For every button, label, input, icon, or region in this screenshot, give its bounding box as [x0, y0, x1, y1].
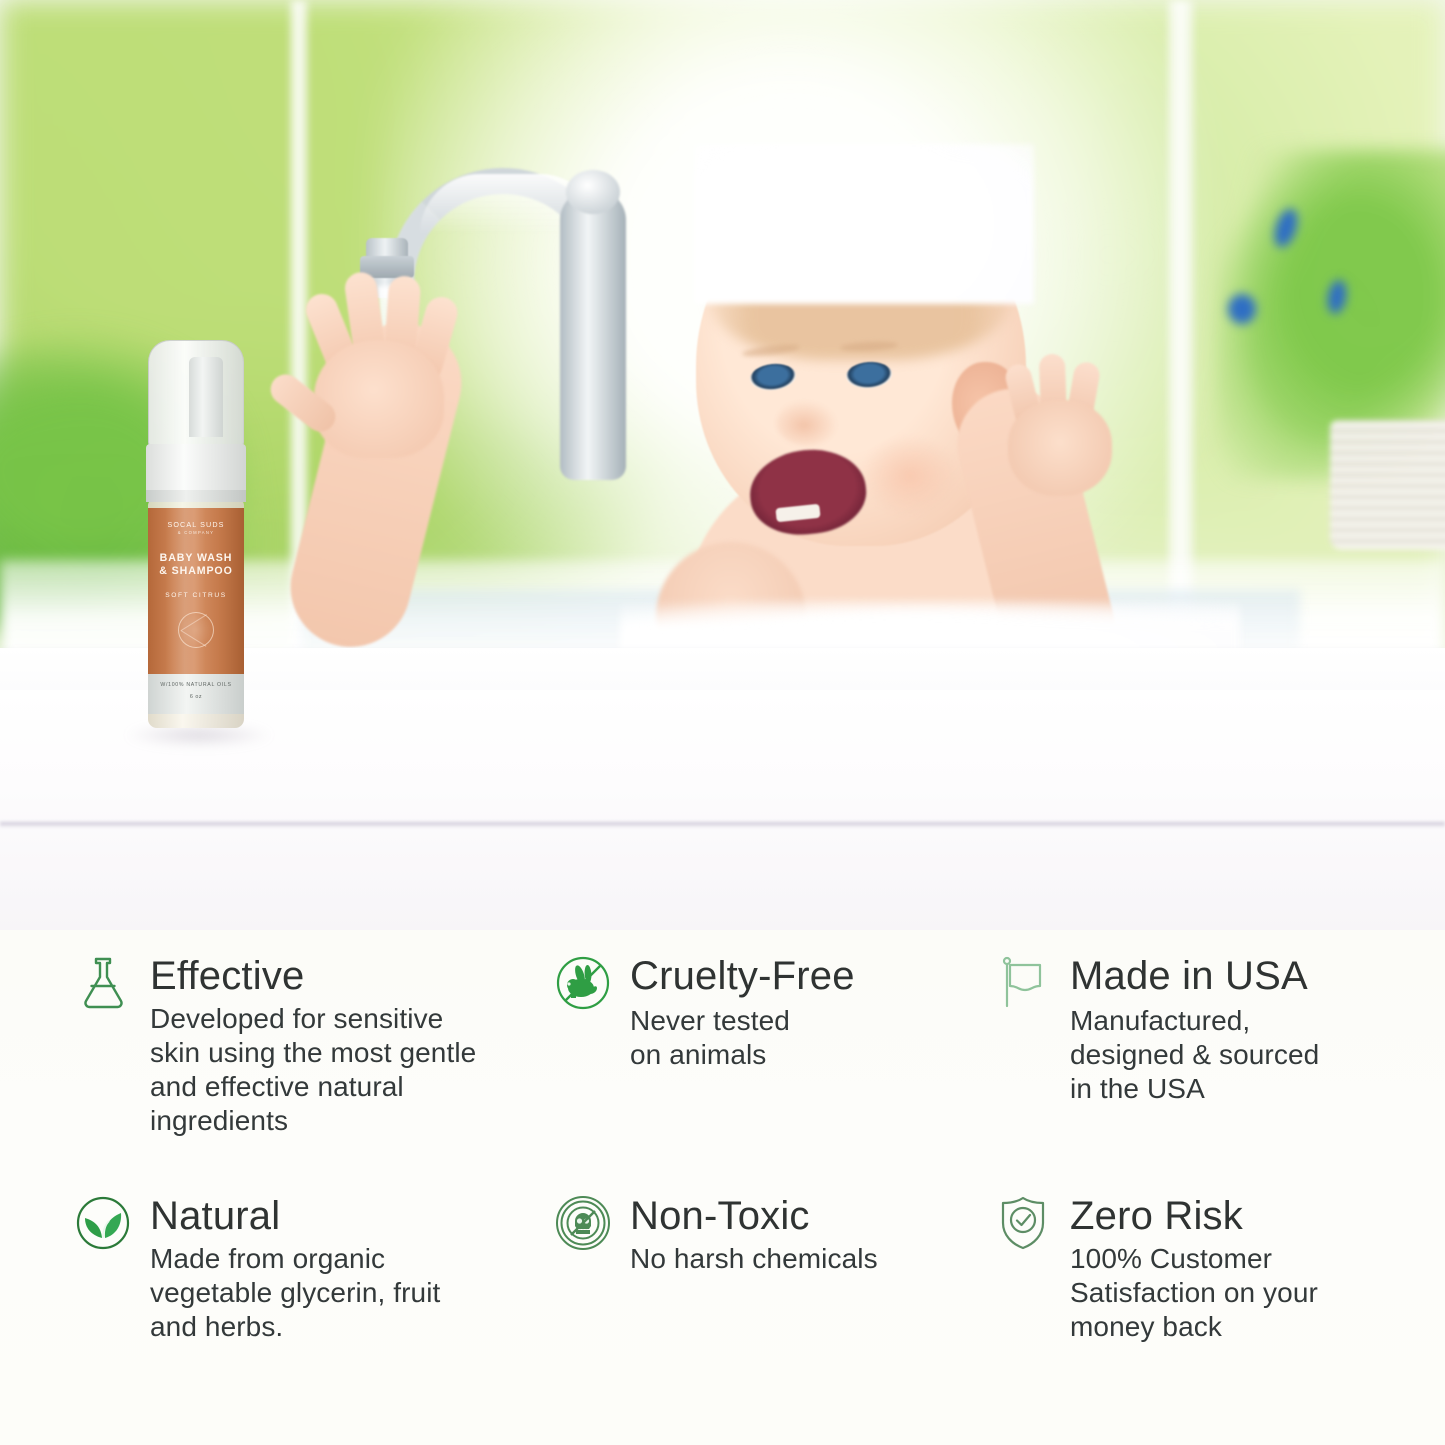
- flask-icon: [72, 952, 134, 1014]
- features-panel: Effective Developed for sensitive skin u…: [0, 930, 1445, 1445]
- feature-text: Non-Toxic No harsh chemicals: [630, 1192, 992, 1276]
- feature-cruelty-free: Cruelty-Free Never tested on animals: [552, 952, 992, 1192]
- feature-natural: Natural Made from organic vegetable glyc…: [72, 1192, 552, 1344]
- feature-description: Made from organic vegetable glycerin, fr…: [150, 1242, 552, 1344]
- baby-hand-left: [280, 270, 470, 450]
- label-scent: SOFT CITRUS: [148, 592, 244, 599]
- bottle-label: SOCAL SUDS & COMPANY BABY WASH & SHAMPOO…: [148, 508, 244, 674]
- pump-collar-ring: [146, 490, 246, 502]
- label-brand: SOCAL SUDS: [148, 520, 244, 529]
- flag-icon: [992, 952, 1054, 1014]
- feature-text: Cruelty-Free Never tested on animals: [630, 952, 992, 1072]
- label-size: 6 oz: [148, 694, 244, 700]
- feature-text: Made in USA Manufactured, designed & sou…: [1070, 952, 1432, 1106]
- product-bottle: SOCAL SUDS & COMPANY BABY WASH & SHAMPOO…: [138, 340, 256, 732]
- feature-description: Never tested on animals: [630, 1004, 992, 1072]
- counter-edge-line: [0, 822, 1445, 827]
- pump-stem: [189, 357, 223, 437]
- baby-cheek: [862, 436, 958, 516]
- leaves-circle-icon: [72, 1192, 134, 1254]
- feature-made-in-usa: Made in USA Manufactured, designed & sou…: [992, 952, 1432, 1192]
- woven-basket-pot: [1330, 420, 1445, 550]
- rabbit-no-icon: [552, 952, 614, 1014]
- shield-check-icon: [992, 1192, 1054, 1254]
- product-listing-image: SOCAL SUDS & COMPANY BABY WASH & SHAMPOO…: [0, 0, 1445, 1445]
- feature-description: 100% Customer Satisfaction on your money…: [1070, 1242, 1432, 1344]
- feature-title: Natural: [150, 1194, 552, 1238]
- label-oils-claim: W/100% NATURAL OILS: [148, 682, 244, 688]
- skull-no-icon: [552, 1192, 614, 1254]
- feature-text: Zero Risk 100% Customer Satisfaction on …: [1070, 1192, 1432, 1344]
- feature-description: Developed for sensitive skin using the m…: [150, 1002, 552, 1138]
- palm: [1008, 400, 1112, 496]
- citrus-seal-icon: [178, 612, 214, 648]
- feature-title: Zero Risk: [1070, 1194, 1432, 1238]
- feature-title: Made in USA: [1070, 954, 1432, 998]
- feature-effective: Effective Developed for sensitive skin u…: [72, 952, 552, 1192]
- feature-text: Natural Made from organic vegetable glyc…: [150, 1192, 552, 1344]
- feature-title: Effective: [150, 954, 552, 998]
- hero-photo: SOCAL SUDS & COMPANY BABY WASH & SHAMPOO…: [0, 0, 1445, 930]
- feature-text: Effective Developed for sensitive skin u…: [150, 952, 552, 1138]
- label-product-name: BABY WASH & SHAMPOO: [148, 552, 244, 578]
- baby-nose: [776, 400, 838, 446]
- feature-description: Manufactured, designed & sourced in the …: [1070, 1004, 1432, 1106]
- label-brand-sub: & COMPANY: [148, 530, 244, 535]
- feature-non-toxic: Non-Toxic No harsh chemicals: [552, 1192, 992, 1344]
- feature-title: Cruelty-Free: [630, 954, 992, 998]
- features-grid: Effective Developed for sensitive skin u…: [72, 952, 1387, 1344]
- feature-title: Non-Toxic: [630, 1194, 992, 1238]
- pump-cap-dome: [148, 340, 244, 448]
- feature-zero-risk: Zero Risk 100% Customer Satisfaction on …: [992, 1192, 1432, 1344]
- palm: [314, 340, 444, 458]
- soap-foam-on-head: [694, 144, 1034, 304]
- label-footer-band: W/100% NATURAL OILS 6 oz: [148, 674, 244, 714]
- blue-flower: [1228, 294, 1256, 324]
- feature-description: No harsh chemicals: [630, 1242, 992, 1276]
- baby-hand-right: [984, 354, 1134, 504]
